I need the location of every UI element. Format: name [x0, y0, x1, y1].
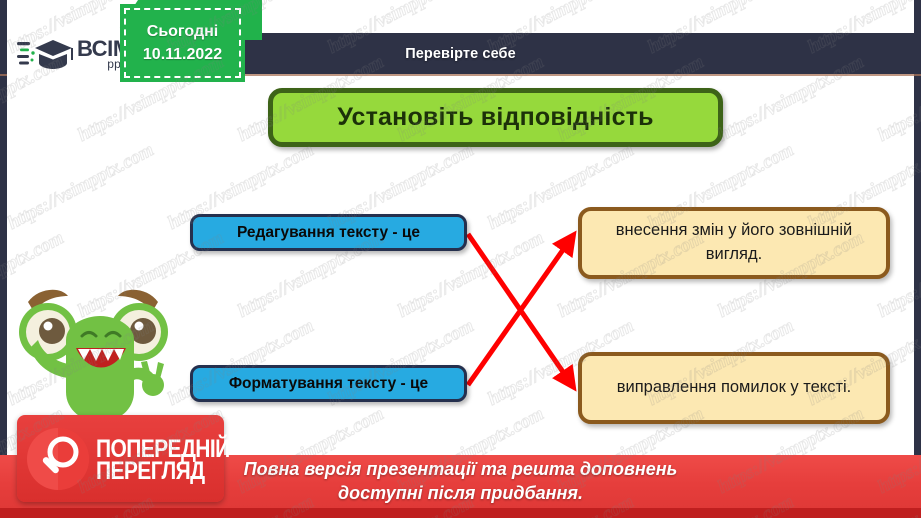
arrow-prompt1-to-answer2 — [468, 234, 572, 385]
answer-box-2-label: виправлення помилок у тексті. — [617, 376, 852, 400]
preview-badge-text: ПОПЕРЕДНІЙ ПЕРЕГЛЯД — [96, 437, 230, 480]
date-badge: Сьогодні 10.11.2022 — [120, 4, 245, 82]
magnifier-icon — [27, 428, 89, 490]
preview-badge: ПОПЕРЕДНІЙ ПЕРЕГЛЯД — [17, 415, 224, 502]
graduation-cap-icon — [17, 35, 75, 73]
answer-box-1-label: внесення змін у його зовнішній вигляд. — [596, 219, 872, 267]
date-badge-label: Сьогодні — [147, 23, 218, 41]
prompt-box-1[interactable]: Редагування тексту - це — [190, 214, 467, 251]
prompt-box-2[interactable]: Форматування тексту - це — [190, 365, 467, 402]
presentation-slide: Перевірте себе ВСІМ pptx Сьогодні 10.11.… — [0, 0, 921, 518]
green-monster-mascot — [8, 282, 198, 432]
preview-badge-line2: ПЕРЕГЛЯД — [96, 459, 230, 484]
bottom-accent-strip — [0, 508, 921, 518]
prompt-box-2-label: Форматування тексту - це — [229, 375, 428, 393]
page-title: Установіть відповідність — [337, 103, 653, 132]
arrow-prompt2-to-answer1 — [468, 237, 572, 385]
watermark-text: https://vsimpptx.com — [4, 139, 157, 234]
slide-title-banner: Установіть відповідність — [268, 88, 723, 147]
prompt-box-1-label: Редагування тексту - це — [237, 224, 420, 242]
slide-right-border — [914, 0, 921, 518]
answer-box-2[interactable]: виправлення помилок у тексті. — [578, 352, 890, 424]
date-badge-value: 10.11.2022 — [143, 46, 222, 64]
purchase-banner-line2: доступні після придбання. — [338, 482, 583, 505]
slide-left-border — [0, 0, 7, 518]
answer-box-1[interactable]: внесення змін у його зовнішній вигляд. — [578, 207, 890, 279]
purchase-banner-line1: Повна версія презентації та решта доповн… — [244, 458, 678, 481]
header-title: Перевірте себе — [405, 46, 516, 62]
